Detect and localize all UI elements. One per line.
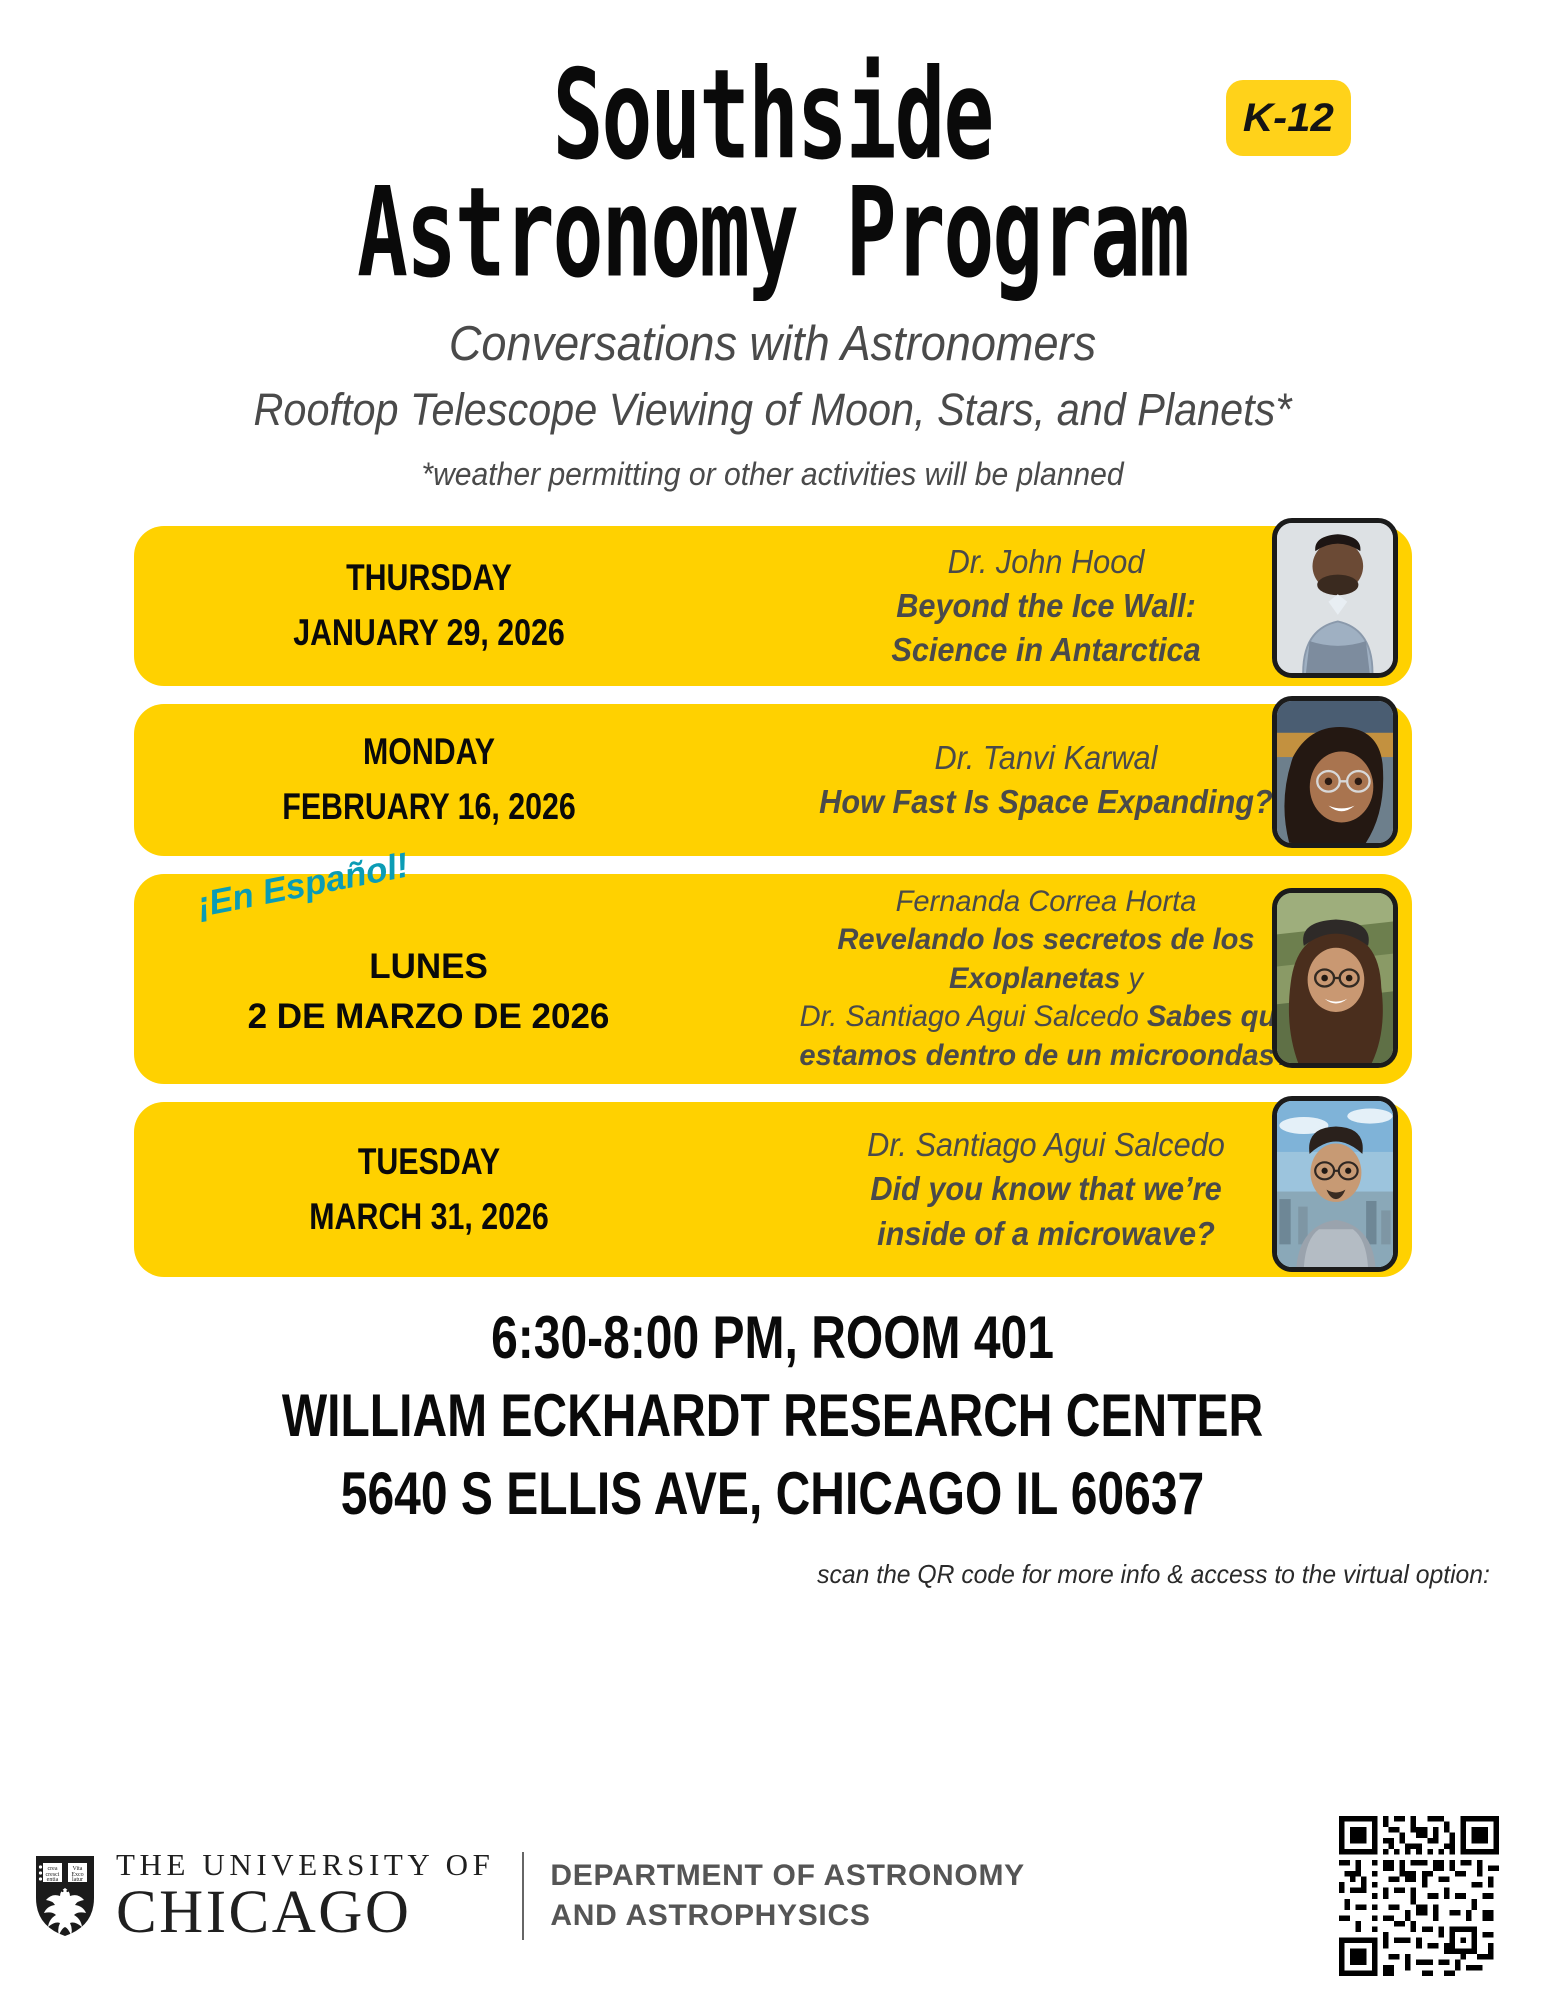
event-date: FEBRUARY 16, 2026 bbox=[211, 780, 646, 835]
poster-root: Southside Astronomy Program K-12 Convers… bbox=[0, 0, 1545, 2000]
event-card[interactable]: MONDAY FEBRUARY 16, 2026 Dr. Tanvi Karwa… bbox=[134, 704, 1412, 856]
department-line-1: DEPARTMENT OF ASTRONOMY bbox=[550, 1856, 1024, 1896]
svg-text:latur: latur bbox=[72, 1877, 83, 1883]
event-date-block: THURSDAY JANUARY 29, 2026 bbox=[134, 551, 694, 661]
event-talk-line-2: Exoplanetas bbox=[948, 962, 1119, 995]
event-card[interactable]: ¡En Español! LUNES 2 DE MARZO DE 2026 Fe… bbox=[134, 874, 1412, 1084]
department-line-2: AND ASTROPHYSICS bbox=[550, 1896, 1024, 1936]
qr-instruction-text: scan the QR code for more info & access … bbox=[77, 1559, 1545, 1590]
footer-divider bbox=[522, 1852, 524, 1940]
headshot-santiago-agui-salcedo bbox=[1272, 1096, 1398, 1272]
footer: crea cresci entia Vita Exco latur THE UN… bbox=[0, 1816, 1545, 1976]
event-day: MONDAY bbox=[211, 725, 646, 780]
event-speaker-2: Dr. Santiago Agui Salcedo bbox=[799, 1000, 1146, 1033]
k12-badge-label: K-12 bbox=[1243, 96, 1334, 141]
event-date-block: LUNES 2 DE MARZO DE 2026 bbox=[134, 916, 694, 1041]
event-date: 2 DE MARZO DE 2026 bbox=[164, 992, 694, 1042]
subtitle-weather-note: *weather permitting or other activities … bbox=[46, 456, 1498, 493]
qr-code[interactable] bbox=[1339, 1816, 1499, 1976]
event-card[interactable]: TUESDAY MARCH 31, 2026 Dr. Santiago Agui… bbox=[134, 1102, 1412, 1277]
event-date: MARCH 31, 2026 bbox=[211, 1190, 646, 1245]
university-name: CHICAGO bbox=[116, 1882, 494, 1943]
headshot-fernanda-correa-horta bbox=[1272, 888, 1398, 1068]
subtitle-rooftop-viewing: Rooftop Telescope Viewing of Moon, Stars… bbox=[62, 384, 1483, 436]
venue-building: WILLIAM ECKHARDT RESEARCH CENTER bbox=[155, 1377, 1391, 1455]
page-title-line-2: Astronomy Program bbox=[23, 176, 1522, 290]
event-list: THURSDAY JANUARY 29, 2026 Dr. John Hood … bbox=[0, 526, 1545, 1277]
event-conjunction: y bbox=[1120, 962, 1143, 995]
headshot-john-hood bbox=[1272, 518, 1398, 678]
event-day: LUNES bbox=[164, 942, 694, 992]
event-date-block: TUESDAY MARCH 31, 2026 bbox=[134, 1135, 694, 1245]
event-date-block: MONDAY FEBRUARY 16, 2026 bbox=[134, 725, 694, 835]
venue-block: 6:30-8:00 PM, ROOM 401 WILLIAM ECKHARDT … bbox=[0, 1299, 1545, 1533]
uchicago-crest-icon: crea cresci entia Vita Exco latur bbox=[34, 1854, 96, 1938]
event-talk-2-part-2: estamos dentro de un microondas? bbox=[799, 1039, 1292, 1072]
en-espanol-badge: ¡En Español! bbox=[194, 846, 412, 926]
venue-street-address: 5640 S ELLIS AVE, CHICAGO IL 60637 bbox=[155, 1455, 1391, 1533]
svg-text:entia: entia bbox=[47, 1877, 59, 1883]
k12-badge: K-12 bbox=[1226, 80, 1351, 156]
event-talk-2-part-1: Sabes que bbox=[1146, 1000, 1292, 1033]
event-day: TUESDAY bbox=[211, 1135, 646, 1190]
venue-time-room: 6:30-8:00 PM, ROOM 401 bbox=[155, 1299, 1391, 1377]
event-day: THURSDAY bbox=[211, 551, 646, 606]
department-name: DEPARTMENT OF ASTRONOMY AND ASTROPHYSICS bbox=[550, 1856, 1024, 1935]
subtitle-conversations: Conversations with Astronomers bbox=[62, 316, 1483, 372]
event-card[interactable]: THURSDAY JANUARY 29, 2026 Dr. John Hood … bbox=[134, 526, 1412, 686]
university-prefix: THE UNIVERSITY OF bbox=[116, 1849, 494, 1880]
event-date: JANUARY 29, 2026 bbox=[211, 606, 646, 661]
header: Southside Astronomy Program K-12 Convers… bbox=[0, 0, 1545, 493]
uchicago-wordmark: THE UNIVERSITY OF CHICAGO bbox=[116, 1849, 494, 1943]
headshot-tanvi-karwal bbox=[1272, 696, 1398, 848]
university-logo: crea cresci entia Vita Exco latur THE UN… bbox=[34, 1849, 494, 1943]
